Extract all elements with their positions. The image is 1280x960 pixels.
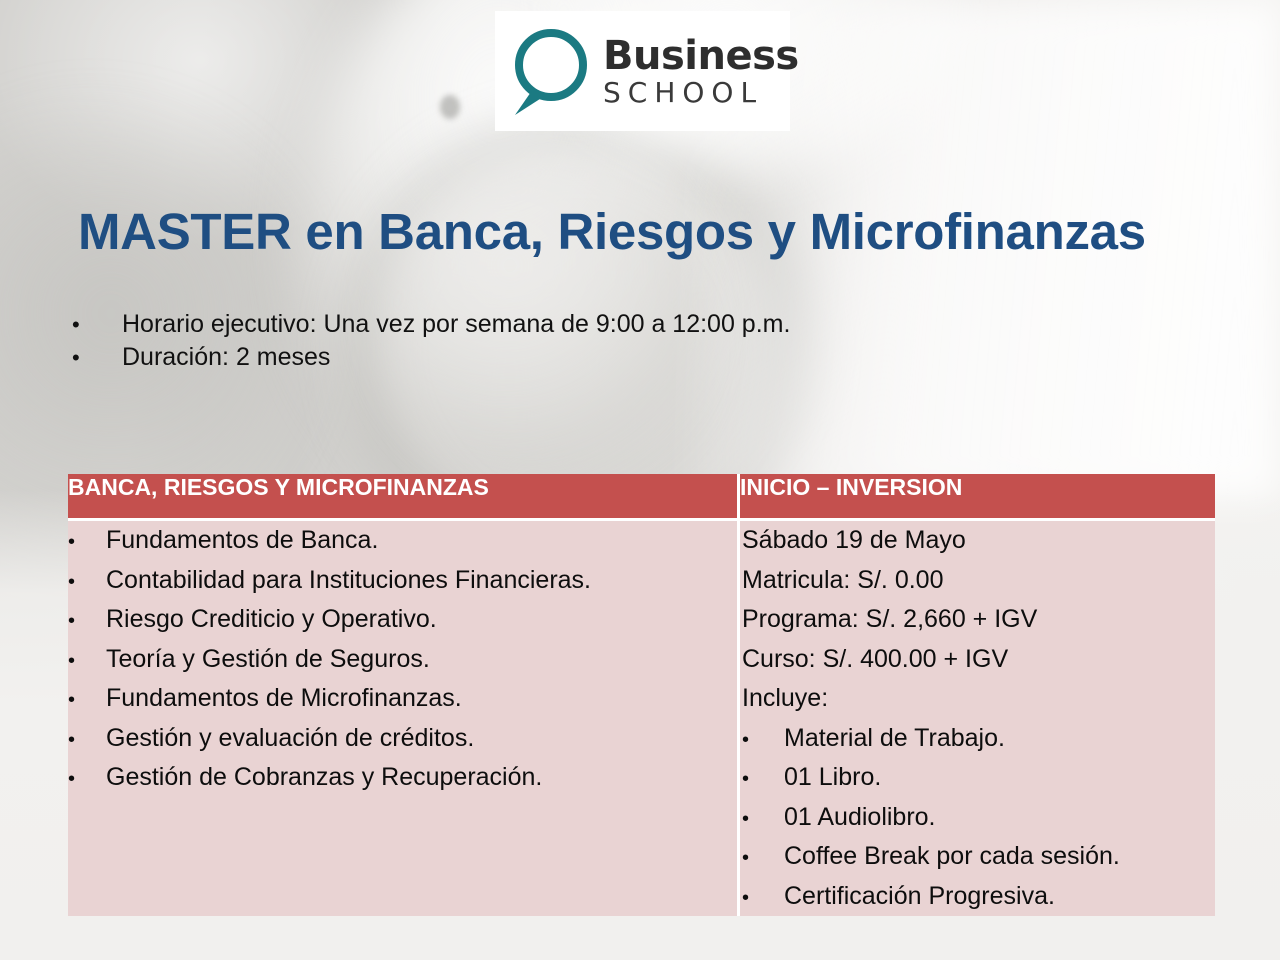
list-item: • Contabilidad para Instituciones Financ… [68,561,737,601]
bullet-icon: • [742,764,784,796]
brand-logo: Business SCHOOL [495,11,790,131]
page-title: MASTER en Banca, Riesgos y Microfinanzas [78,205,1208,259]
table-header-row: BANCA, RIESGOS Y MICROFINANZAS INICIO – … [68,474,1215,521]
curso-line: Curso: S/. 400.00 + IGV [740,640,1215,680]
programa-line: Programa: S/. 2,660 + IGV [740,600,1215,640]
list-item-label: Material de Trabajo. [784,719,1215,759]
list-item-label: 01 Libro. [784,758,1215,798]
list-item: • Fundamentos de Banca. [68,521,737,561]
logo-brand-primary: Business [603,36,799,76]
matricula-line: Matricula: S/. 0.00 [740,561,1215,601]
bullet-icon: • [742,883,784,915]
list-item: • Duración: 2 meses [72,341,1172,374]
logo-wordmark: Business SCHOOL [603,36,799,107]
bullet-icon: • [68,685,106,717]
list-item: • Fundamentos de Microfinanzas. [68,679,737,719]
background-blur-detail [440,95,460,119]
table-cell-curriculum: • Fundamentos de Banca. • Contabilidad p… [68,521,740,916]
list-item: • Riesgo Crediticio y Operativo. [68,600,737,640]
bullet-icon: • [68,725,106,757]
list-item: • Certificación Progresiva. [740,877,1215,917]
list-item: • Horario ejecutivo: Una vez por semana … [72,308,1172,341]
list-item: • Gestión de Cobranzas y Recuperación. [68,758,737,798]
speech-bubble-circle-icon [509,25,593,117]
list-item-label: Fundamentos de Banca. [106,521,737,561]
table-row: • Fundamentos de Banca. • Contabilidad p… [68,521,1215,916]
presentation-slide: Business SCHOOL MASTER en Banca, Riesgos… [0,0,1280,960]
list-item-label: Coffee Break por cada sesión. [784,837,1215,877]
bullet-icon: • [68,567,106,599]
incluye-label: Incluye: [740,679,1215,719]
list-item: • Material de Trabajo. [740,719,1215,759]
intro-bullet-list: • Horario ejecutivo: Una vez por semana … [72,308,1172,374]
bullet-icon: • [742,804,784,836]
list-item-label: 01 Audiolibro. [784,798,1215,838]
list-item: • 01 Libro. [740,758,1215,798]
list-item-label: Riesgo Crediticio y Operativo. [106,600,737,640]
bullet-icon: • [68,764,106,796]
bullet-icon: • [742,843,784,875]
table-cell-inicio-inversion: Sábado 19 de Mayo Matricula: S/. 0.00 Pr… [740,521,1215,916]
list-item-label: Certificación Progresiva. [784,877,1215,917]
course-info-table: BANCA, RIESGOS Y MICROFINANZAS INICIO – … [68,474,1215,916]
list-item: • 01 Audiolibro. [740,798,1215,838]
bullet-icon: • [72,310,122,339]
bullet-icon: • [68,646,106,678]
bullet-icon: • [72,343,122,372]
table-header-inicio-inversion: INICIO – INVERSION [740,474,1215,521]
table-header-curriculum: BANCA, RIESGOS Y MICROFINANZAS [68,474,740,521]
list-item-label: Gestión de Cobranzas y Recuperación. [106,758,737,798]
list-item-label: Duración: 2 meses [122,341,1172,374]
bullet-icon: • [68,606,106,638]
list-item-label: Fundamentos de Microfinanzas. [106,679,737,719]
list-item-label: Gestión y evaluación de créditos. [106,719,737,759]
list-item: • Gestión y evaluación de créditos. [68,719,737,759]
list-item-label: Contabilidad para Instituciones Financie… [106,561,737,601]
list-item-label: Teoría y Gestión de Seguros. [106,640,737,680]
list-item: • Coffee Break por cada sesión. [740,837,1215,877]
logo-brand-secondary: SCHOOL [603,79,799,107]
list-item-label: Horario ejecutivo: Una vez por semana de… [122,308,1172,341]
list-item: • Teoría y Gestión de Seguros. [68,640,737,680]
bullet-icon: • [742,725,784,757]
start-date-line: Sábado 19 de Mayo [740,521,1215,561]
bullet-icon: • [68,527,106,559]
